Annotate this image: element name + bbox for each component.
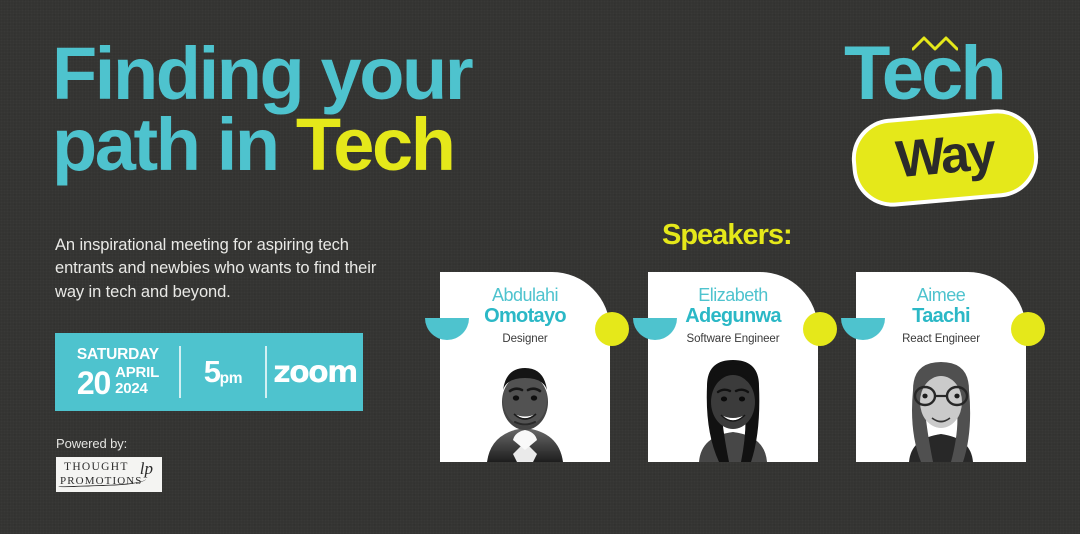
event-time-number: 5: [204, 354, 220, 390]
speaker-role: Designer: [440, 333, 610, 345]
yellow-dot-decoration: [1011, 312, 1045, 346]
event-platform: zoom: [267, 333, 363, 411]
yellow-dot-decoration: [803, 312, 837, 346]
speaker-first-name: Elizabeth: [648, 286, 818, 305]
logo-word-way: Way: [894, 126, 996, 190]
event-day: 20: [77, 370, 110, 398]
headline-line-2-plain: path in: [52, 103, 296, 186]
speaker-portrait: [469, 350, 581, 462]
event-year: 2024: [115, 381, 159, 397]
event-date: SATURDAY 20 APRIL 2024: [55, 333, 179, 411]
zoom-logo-text: zoom: [273, 355, 357, 390]
sponsor-logo-line-2: PROMOTIONS: [60, 475, 143, 487]
yellow-dot-decoration: [595, 312, 629, 346]
page-title: Finding your path in Tech: [52, 38, 612, 180]
speaker-portrait: [885, 350, 997, 462]
headline-line-2-accent: Tech: [296, 103, 454, 186]
speaker-first-name: Aimee: [856, 286, 1026, 305]
event-details-bar: SATURDAY 20 APRIL 2024 5 pm zoom: [55, 333, 363, 411]
event-weekday: SATURDAY: [77, 347, 159, 363]
speaker-role: React Engineer: [856, 333, 1026, 345]
event-poster: Finding your path in Tech An inspiration…: [0, 0, 1080, 534]
event-time-suffix: pm: [220, 370, 243, 390]
speaker-role: Software Engineer: [648, 333, 818, 345]
techway-logo: Tech Way: [838, 30, 1050, 210]
speakers-list: Abdulahi Omotayo Designer: [440, 272, 1040, 462]
sponsor-logo: THOUGHT lp PROMOTIONS: [56, 457, 162, 492]
event-time: 5 pm: [181, 333, 265, 411]
speaker-portrait: [677, 350, 789, 462]
logo-badge-way: Way: [849, 106, 1042, 210]
speaker-card[interactable]: Aimee Taachi React Engineer: [856, 272, 1026, 462]
powered-by-block: Powered by: THOUGHT lp PROMOTIONS: [56, 436, 162, 492]
speaker-card[interactable]: Elizabeth Adegunwa Software Engineer: [648, 272, 818, 462]
event-month: APRIL: [115, 365, 159, 381]
event-description: An inspirational meeting for aspiring te…: [55, 234, 400, 304]
zigzag-accent-icon: [912, 36, 958, 52]
speaker-first-name: Abdulahi: [440, 286, 610, 305]
speaker-card[interactable]: Abdulahi Omotayo Designer: [440, 272, 610, 462]
speakers-heading: Speakers:: [662, 219, 792, 252]
powered-by-label: Powered by:: [56, 436, 162, 451]
